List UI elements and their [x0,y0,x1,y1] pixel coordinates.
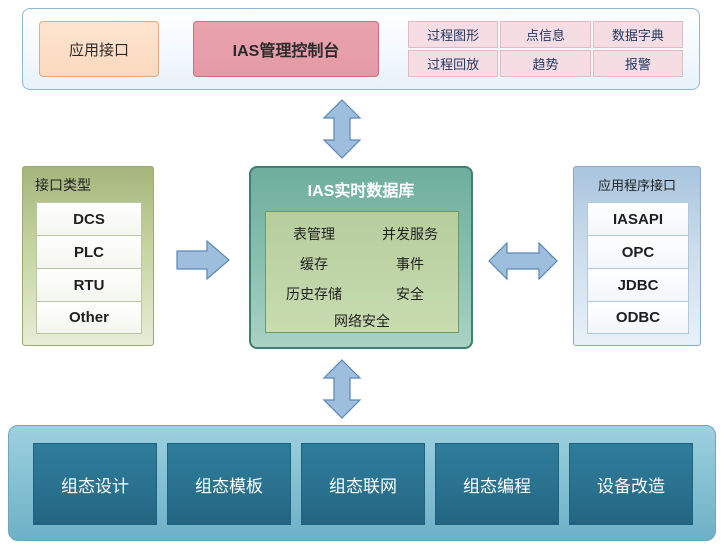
arrow-center-to-api-double-icon [487,238,559,284]
ias-database-box: IAS实时数据库 表管理 并发服务 缓存 事件 历史存储 安全 网络安全 [249,166,473,349]
bottom-item-label: 组态联网 [329,472,397,497]
api-item-opc[interactable]: OPC [587,235,689,268]
api-panel-list: IASAPI OPC JDBC ODBC [587,202,689,334]
bottom-item-label: 组态设计 [61,472,129,497]
api-item-label: ODBC [616,309,660,326]
menu-item-process-graphics[interactable]: 过程图形 [408,21,498,48]
interface-type-box: 接口类型 DCS PLC RTU Other [22,166,154,346]
menu-item-label: 过程图形 [427,25,479,44]
menu-item-process-replay[interactable]: 过程回放 [408,50,498,77]
bottom-item-label: 组态编程 [463,472,531,497]
feature-history-storage: 历史存储 [266,284,362,304]
bottom-panel: 组态设计 组态模板 组态联网 组态编程 设备改造 [8,425,716,541]
bottom-item-config-design[interactable]: 组态设计 [33,443,157,525]
feature-concurrent-service: 并发服务 [362,224,458,244]
api-item-jdbc[interactable]: JDBC [587,268,689,301]
app-interface-label: 应用接口 [69,39,129,60]
api-item-label: IASAPI [613,211,663,228]
bottom-item-config-programming[interactable]: 组态编程 [435,443,559,525]
bottom-item-config-networking[interactable]: 组态联网 [301,443,425,525]
menu-grid: 过程图形 点信息 数据字典 过程回放 趋势 报警 [408,21,683,77]
api-panel-box: 应用程序接口 IASAPI OPC JDBC ODBC [573,166,701,346]
feature-event: 事件 [362,254,458,274]
api-panel-title: 应用程序接口 [574,175,700,194]
arrow-bottom-vertical-double-icon [320,358,364,420]
interface-item-rtu[interactable]: RTU [36,268,142,301]
top-panel: 应用接口 IAS管理控制台 过程图形 点信息 数据字典 过程回放 趋势 报警 [22,8,700,90]
menu-item-trend[interactable]: 趋势 [500,50,590,77]
api-item-label: JDBC [618,277,659,294]
feature-row: 历史存储 安全 [266,284,458,304]
api-item-odbc[interactable]: ODBC [587,301,689,334]
interface-item-label: Other [69,309,109,326]
interface-item-other[interactable]: Other [36,301,142,334]
interface-item-label: PLC [74,244,104,261]
interface-item-label: DCS [73,211,105,228]
menu-item-point-info[interactable]: 点信息 [500,21,590,48]
menu-item-label: 报警 [625,54,651,73]
menu-item-label: 趋势 [532,54,558,73]
menu-item-label: 数据字典 [612,25,664,44]
feature-table-management: 表管理 [266,224,362,244]
interface-item-plc[interactable]: PLC [36,235,142,268]
arrow-top-vertical-double-icon [320,98,364,160]
ias-console-box[interactable]: IAS管理控制台 [193,21,379,77]
ias-database-title: IAS实时数据库 [251,177,471,201]
bottom-items-row: 组态设计 组态模板 组态联网 组态编程 设备改造 [33,443,693,525]
feature-cache: 缓存 [266,254,362,274]
api-item-iasapi[interactable]: IASAPI [587,202,689,235]
feature-row: 网络安全 [266,311,458,331]
feature-row: 表管理 并发服务 [266,224,458,244]
interface-type-title: 接口类型 [35,175,91,195]
menu-item-alarm[interactable]: 报警 [593,50,683,77]
ias-console-label: IAS管理控制台 [233,37,340,61]
app-interface-box[interactable]: 应用接口 [39,21,159,77]
bottom-item-label: 设备改造 [597,472,665,497]
arrow-left-to-center-right-icon [175,238,231,282]
feature-security: 安全 [362,284,458,304]
interface-type-list: DCS PLC RTU Other [36,202,142,334]
interface-item-dcs[interactable]: DCS [36,202,142,235]
bottom-item-device-retrofit[interactable]: 设备改造 [569,443,693,525]
api-item-label: OPC [622,244,655,261]
menu-item-data-dictionary[interactable]: 数据字典 [593,21,683,48]
ias-database-features: 表管理 并发服务 缓存 事件 历史存储 安全 网络安全 [265,211,459,333]
feature-row: 缓存 事件 [266,254,458,274]
menu-item-label: 点信息 [526,25,565,44]
bottom-item-label: 组态模板 [195,472,263,497]
bottom-item-config-template[interactable]: 组态模板 [167,443,291,525]
menu-item-label: 过程回放 [427,54,479,73]
feature-network-security: 网络安全 [334,311,390,331]
interface-item-label: RTU [74,277,105,294]
